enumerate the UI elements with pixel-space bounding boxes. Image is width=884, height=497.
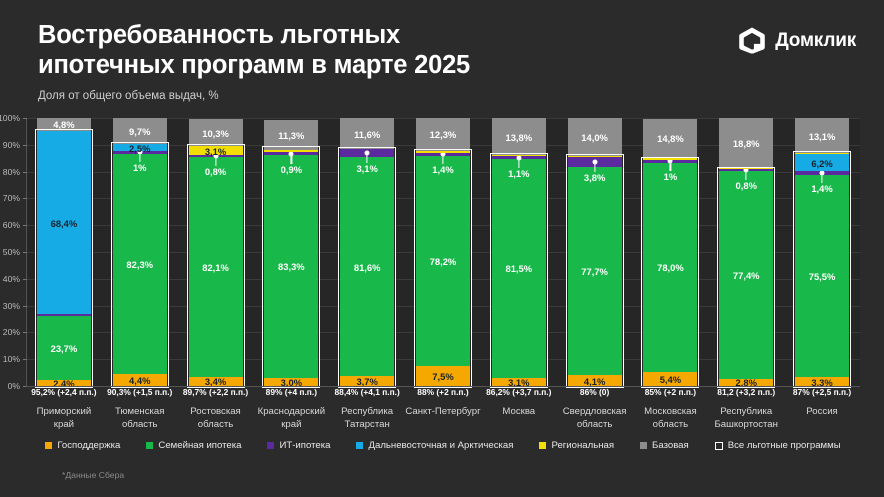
legend-label: Дальневосточная и Арктическая xyxy=(368,440,513,451)
segment-value-label: 13,1% xyxy=(795,131,849,142)
x-axis-cell: 95,2% (+2,4 п.п.)Приморский край xyxy=(26,387,102,431)
page-subtitle: Доля от общего объема выдач, % xyxy=(38,90,698,102)
category-name-label: Свердловская область xyxy=(557,406,633,431)
category-total-label: 88,4% (+4,1 п.п.) xyxy=(329,387,405,397)
x-axis-cell: 90,3% (+1,5 п.п.)Тюменская область xyxy=(102,387,178,431)
category-total-label: 95,2% (+2,4 п.п.) xyxy=(26,387,102,397)
legend-swatch xyxy=(356,442,363,449)
segment-value-label: 2,5% xyxy=(113,143,167,154)
segment-value-label: 1,4% xyxy=(811,183,832,194)
segment-value-label: 12,3% xyxy=(416,129,470,140)
legend-item[interactable]: Базовая xyxy=(640,440,689,451)
segment-value-label: 0,8% xyxy=(736,180,757,191)
x-axis-cell: 86,2% (+3,7 п.п.)Москва xyxy=(481,387,557,431)
legend-swatch xyxy=(267,442,274,449)
stacked-bar[interactable]: 3,3%75,5%1,4%6,2%13,1% xyxy=(795,118,849,386)
x-axis-cell: 87% (+2,5 п.п.)Россия xyxy=(784,387,860,431)
segment-value-label: 4,1% xyxy=(568,376,622,387)
legend-item[interactable]: ИТ-ипотека xyxy=(267,440,330,451)
segment-value-label: 23,7% xyxy=(37,343,91,354)
segment-value-label: 5,4% xyxy=(643,374,697,385)
segment-value-label: 11,3% xyxy=(264,130,318,141)
x-axis-cell: 85% (+2 п.п.)Московская область xyxy=(633,387,709,431)
segment-value-label: 11,6% xyxy=(340,129,394,140)
legend-label: ИТ-ипотека xyxy=(279,440,330,451)
category-name-label: Ростовская область xyxy=(178,406,254,431)
bar-slot[interactable]: 2,8%77,4%0,8%18,8% xyxy=(708,118,784,386)
segment-value-label: 14,0% xyxy=(568,132,622,143)
page-title: Востребованность льготных ипотечных прог… xyxy=(38,20,698,80)
legend-item[interactable]: Господдержка xyxy=(45,440,120,451)
legend-swatch xyxy=(715,442,723,450)
y-tick-label: 50% xyxy=(3,247,20,257)
category-total-label: 87% (+2,5 п.п.) xyxy=(784,387,860,397)
segment-value-label: 77,7% xyxy=(568,266,622,277)
category-total-label: 88% (+2 п.п.) xyxy=(405,387,481,397)
y-tick-label: 0% xyxy=(8,381,20,391)
stacked-bar[interactable]: 3,7%81,6%3,1%11,6% xyxy=(340,118,394,386)
y-tick-label: 60% xyxy=(3,220,20,230)
y-tick-label: 80% xyxy=(3,167,20,177)
y-tick-label: 30% xyxy=(3,301,20,311)
segment-value-label: 1,4% xyxy=(432,164,453,175)
legend-item[interactable]: Все льготные программы xyxy=(715,440,841,451)
segment-value-label: 81,6% xyxy=(340,262,394,273)
y-tick-label: 70% xyxy=(3,193,20,203)
callout-dot xyxy=(365,151,370,156)
segment-value-label: 4,8% xyxy=(37,119,91,130)
bar-segment[interactable] xyxy=(492,155,546,156)
bar-slot[interactable]: 4,4%82,3%1%2,5%9,7% xyxy=(102,118,178,386)
segment-value-label: 18,8% xyxy=(719,138,773,149)
x-axis-cell: 89,7% (+2,2 п.п.)Ростовская область xyxy=(178,387,254,431)
category-name-label: Республика Башкортостан xyxy=(708,406,784,431)
category-total-label: 89,7% (+2,2 п.п.) xyxy=(178,387,254,397)
brand-logo: Домклик xyxy=(738,26,856,55)
legend-label: Базовая xyxy=(652,440,689,451)
x-axis-cell: 81,2 (+3,2 п.п.)Республика Башкортостан xyxy=(708,387,784,431)
segment-value-label: 82,1% xyxy=(189,262,243,273)
category-name-label: Тюменская область xyxy=(102,406,178,431)
category-name-label: Приморский край xyxy=(26,406,102,431)
legend-swatch xyxy=(539,442,546,449)
bar-slot[interactable]: 3,4%82,1%0,8%3,1%10,3% xyxy=(178,118,254,386)
callout-dot xyxy=(592,159,597,164)
segment-value-label: 1,1% xyxy=(508,168,529,179)
segment-value-label: 78,2% xyxy=(416,256,470,267)
category-total-label: 86,2% (+3,7 п.п.) xyxy=(481,387,557,397)
bar-slot[interactable]: 3,7%81,6%3,1%11,6% xyxy=(329,118,405,386)
x-axis-cell: 89% (+4 п.п.)Краснодарский край xyxy=(253,387,329,431)
bar-segment[interactable] xyxy=(568,155,622,156)
x-axis-cell: 86% (0)Свердловская область xyxy=(557,387,633,431)
callout-dot xyxy=(440,152,445,157)
y-tick-label: 40% xyxy=(3,274,20,284)
stacked-bar[interactable]: 3,0%83,3%0,9%11,3% xyxy=(264,118,318,386)
chart-page: Востребованность льготных ипотечных прог… xyxy=(0,0,884,497)
category-name-label: Краснодарский край xyxy=(253,406,329,431)
category-total-label: 86% (0) xyxy=(557,387,633,397)
stacked-bar[interactable]: 2,8%77,4%0,8%18,8% xyxy=(719,118,773,386)
bar-slot[interactable]: 5,4%78,0%1%14,8% xyxy=(633,118,709,386)
chart-plot-area: 0%10%20%30%40%50%60%70%80%90%100% 2,4%23… xyxy=(26,118,860,386)
stacked-bar[interactable]: 2,4%23,7%68,4%4,8% xyxy=(37,118,91,386)
category-name-label: Санкт-Петербург xyxy=(405,406,481,419)
legend-item[interactable]: Дальневосточная и Арктическая xyxy=(356,440,513,451)
segment-value-label: 82,3% xyxy=(113,259,167,270)
legend-swatch xyxy=(640,442,647,449)
segment-value-label: 68,4% xyxy=(37,218,91,229)
category-name-label: Московская область xyxy=(633,406,709,431)
bar-segment[interactable] xyxy=(643,158,697,160)
stacked-bar[interactable]: 4,4%82,3%1%2,5%9,7% xyxy=(113,118,167,386)
legend-item[interactable]: Региональная xyxy=(539,440,614,451)
segment-value-label: 77,4% xyxy=(719,270,773,281)
segment-value-label: 14,8% xyxy=(643,133,697,144)
segment-value-label: 0,9% xyxy=(281,164,302,175)
bar-slot[interactable]: 7,5%78,2%1,4%12,3% xyxy=(405,118,481,386)
bar-segment[interactable] xyxy=(416,151,470,153)
x-axis-cell: 88% (+2 п.п.)Санкт-Петербург xyxy=(405,387,481,431)
legend-label: Все льготные программы xyxy=(728,440,841,451)
stacked-bar[interactable]: 3,1%81,5%1,1%13,8% xyxy=(492,118,546,386)
bar-segment[interactable] xyxy=(264,150,318,152)
y-tick-label: 100% xyxy=(0,113,20,123)
segment-value-label: 83,3% xyxy=(264,261,318,272)
bar-slot[interactable]: 4,1%77,7%3,8%14,0% xyxy=(557,118,633,386)
category-total-label: 89% (+4 п.п.) xyxy=(253,387,329,397)
footnote: *Данные Сбера xyxy=(62,470,124,480)
segment-value-label: 1% xyxy=(664,171,678,182)
bar-slot[interactable]: 3,1%81,5%1,1%13,8% xyxy=(481,118,557,386)
segment-value-label: 7,5% xyxy=(416,371,470,382)
bar-segment[interactable] xyxy=(795,153,849,154)
segment-value-label: 81,5% xyxy=(492,263,546,274)
brand-name: Домклик xyxy=(775,30,856,52)
category-total-label: 85% (+2 п.п.) xyxy=(633,387,709,397)
category-name-label: Москва xyxy=(481,406,557,419)
stacked-bar[interactable]: 4,1%77,7%3,8%14,0% xyxy=(568,118,622,386)
segment-value-label: 6,2% xyxy=(795,158,849,169)
x-axis-cell: 88,4% (+4,1 п.п.)Республика Татарстан xyxy=(329,387,405,431)
legend-swatch xyxy=(146,442,153,449)
segment-value-label: 4,4% xyxy=(113,375,167,386)
legend-label: Семейная ипотека xyxy=(158,440,241,451)
y-tick-label: 90% xyxy=(3,140,20,150)
stacked-bar[interactable]: 3,4%82,1%0,8%3,1%10,3% xyxy=(189,118,243,386)
legend-swatch xyxy=(45,442,52,449)
domklik-house-icon xyxy=(738,26,766,55)
bar-slot[interactable]: 2,4%23,7%68,4%4,8% xyxy=(26,118,102,386)
category-total-label: 90,3% (+1,5 п.п.) xyxy=(102,387,178,397)
legend-label: Региональная xyxy=(551,440,614,451)
chart-legend: ГосподдержкаСемейная ипотекаИТ-ипотекаДа… xyxy=(26,440,860,451)
segment-value-label: 78,0% xyxy=(643,262,697,273)
x-axis-labels: 95,2% (+2,4 п.п.)Приморский край90,3% (+… xyxy=(26,387,860,431)
y-tick-label: 10% xyxy=(3,354,20,364)
segment-value-label: 3,1% xyxy=(189,146,243,157)
category-name-label: Россия xyxy=(784,406,860,419)
segment-value-label: 1% xyxy=(133,162,147,173)
segment-value-label: 3,8% xyxy=(584,172,605,183)
segment-value-label: 10,3% xyxy=(189,128,243,139)
y-tick-label: 20% xyxy=(3,327,20,337)
segment-value-label: 75,5% xyxy=(795,271,849,282)
legend-item[interactable]: Семейная ипотека xyxy=(146,440,241,451)
bar-segment[interactable] xyxy=(37,314,91,316)
callout-dot xyxy=(820,170,825,175)
segment-value-label: 13,8% xyxy=(492,132,546,143)
stacked-bar[interactable]: 7,5%78,2%1,4%12,3% xyxy=(416,118,470,386)
header: Востребованность льготных ипотечных прог… xyxy=(38,20,698,102)
legend-label: Господдержка xyxy=(57,440,120,451)
segment-value-label: 9,7% xyxy=(113,126,167,137)
bar-slot[interactable]: 3,3%75,5%1,4%6,2%13,1% xyxy=(784,118,860,386)
segment-value-label: 3,1% xyxy=(356,163,377,174)
bar-group: 2,4%23,7%68,4%4,8%4,4%82,3%1%2,5%9,7%3,4… xyxy=(26,118,860,386)
category-total-label: 81,2 (+3,2 п.п.) xyxy=(708,387,784,397)
segment-value-label: 0,8% xyxy=(205,166,226,177)
category-name-label: Республика Татарстан xyxy=(329,406,405,431)
stacked-bar[interactable]: 5,4%78,0%1%14,8% xyxy=(643,118,697,386)
bar-slot[interactable]: 3,0%83,3%0,9%11,3% xyxy=(253,118,329,386)
